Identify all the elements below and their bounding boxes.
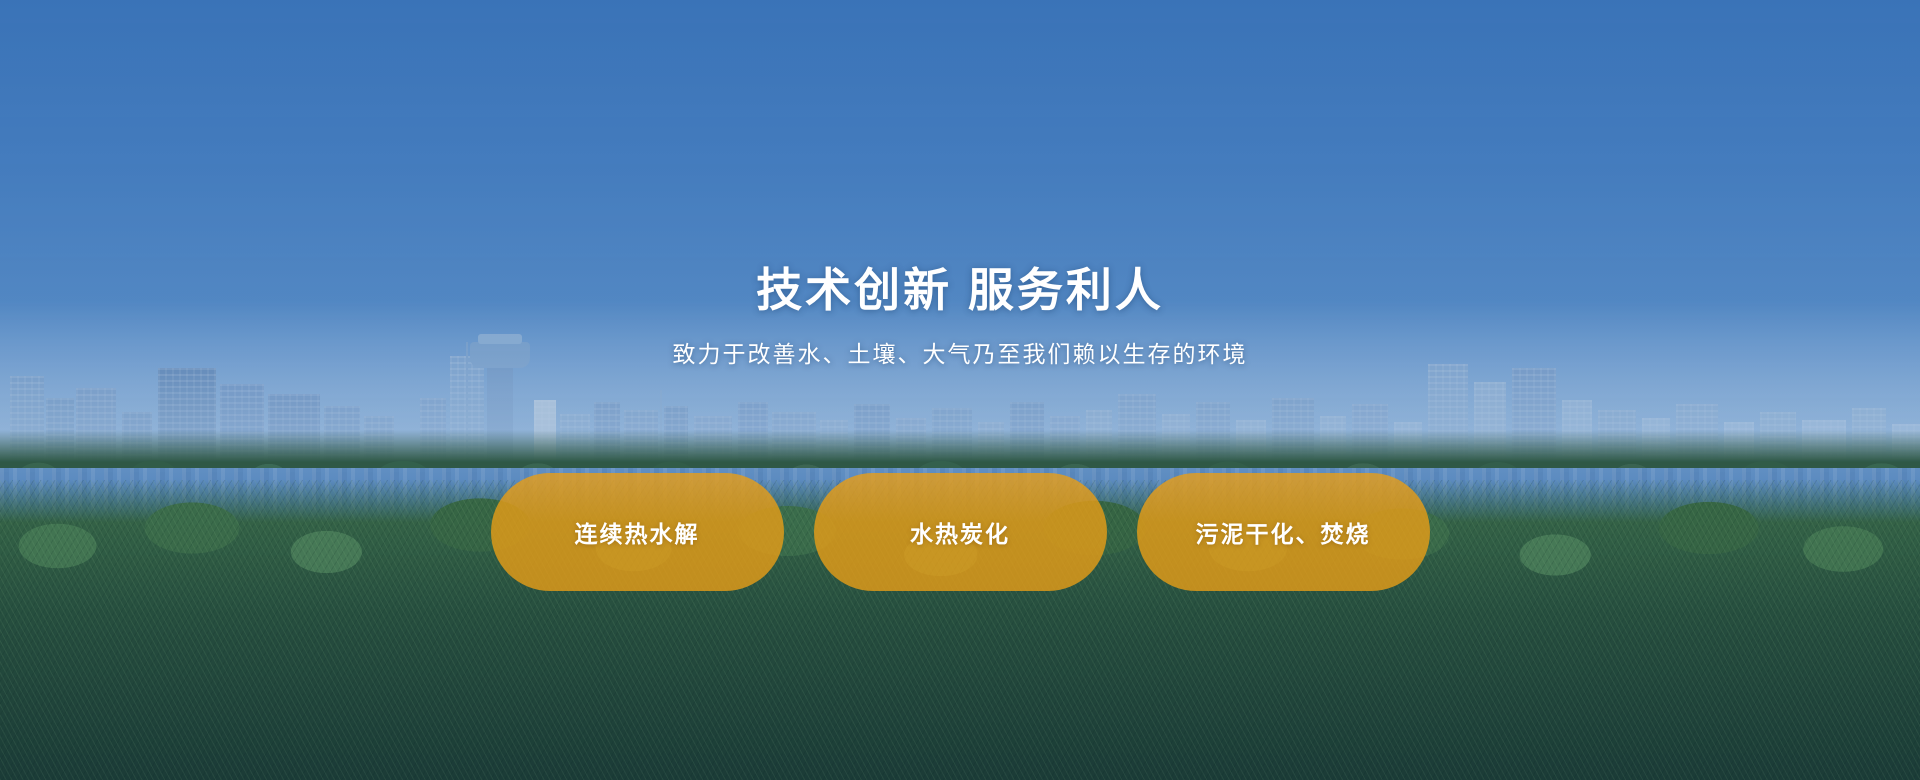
cta-button-continuous-thermal-hydrolysis[interactable]: 连续热水解 bbox=[491, 473, 784, 591]
hero-subtitle: 致力于改善水、土壤、大气乃至我们赖以生存的环境 bbox=[0, 338, 1920, 370]
hero-title: 技术创新 服务利人 bbox=[0, 262, 1920, 318]
hero-banner: 技术创新 服务利人 致力于改善水、土壤、大气乃至我们赖以生存的环境 连续热水解 … bbox=[0, 0, 1920, 780]
cta-button-group: 连续热水解 水热炭化 污泥干化、焚烧 bbox=[0, 473, 1920, 591]
cta-button-sludge-drying-incineration[interactable]: 污泥干化、焚烧 bbox=[1137, 473, 1430, 591]
hero-copy: 技术创新 服务利人 致力于改善水、土壤、大气乃至我们赖以生存的环境 bbox=[0, 262, 1920, 370]
cta-button-hydrothermal-carbonization[interactable]: 水热炭化 bbox=[814, 473, 1107, 591]
